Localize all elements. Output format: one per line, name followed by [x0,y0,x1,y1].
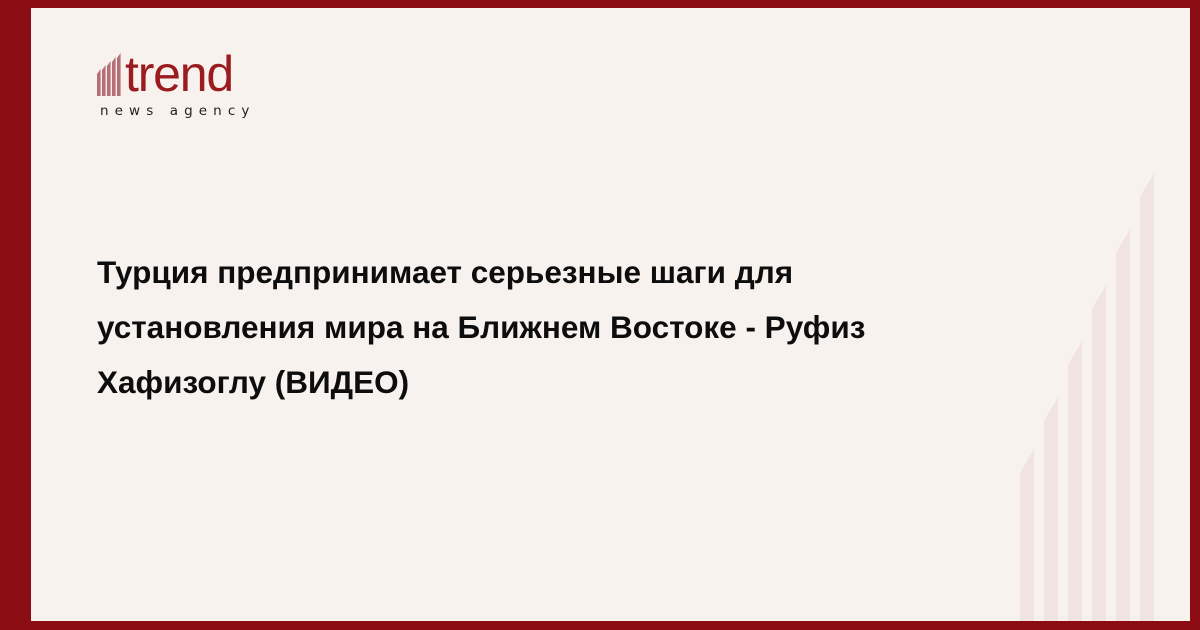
headline-line-2: установления мира на Ближнем Востоке - Р… [97,300,1042,355]
rising-bars-watermark [1020,101,1190,621]
headline-line-1: Турция предпринимает серьезные шаги для [97,245,1042,300]
headline-line-3: Хафизоглу (ВИДЕО) [97,355,1042,410]
brand-logo[interactable]: trend news agency [97,44,397,119]
logo-row: trend [97,44,397,96]
logo-tagline: news agency [100,103,397,119]
article-headline: Турция предпринимает серьезные шаги для … [97,245,1042,410]
card-canvas: trend news agency Турция предпринимает с… [31,8,1190,621]
rising-bars-mark-icon [97,48,124,96]
logo-wordmark: trend [125,50,233,98]
article-share-card: trend news agency Турция предпринимает с… [0,0,1200,630]
